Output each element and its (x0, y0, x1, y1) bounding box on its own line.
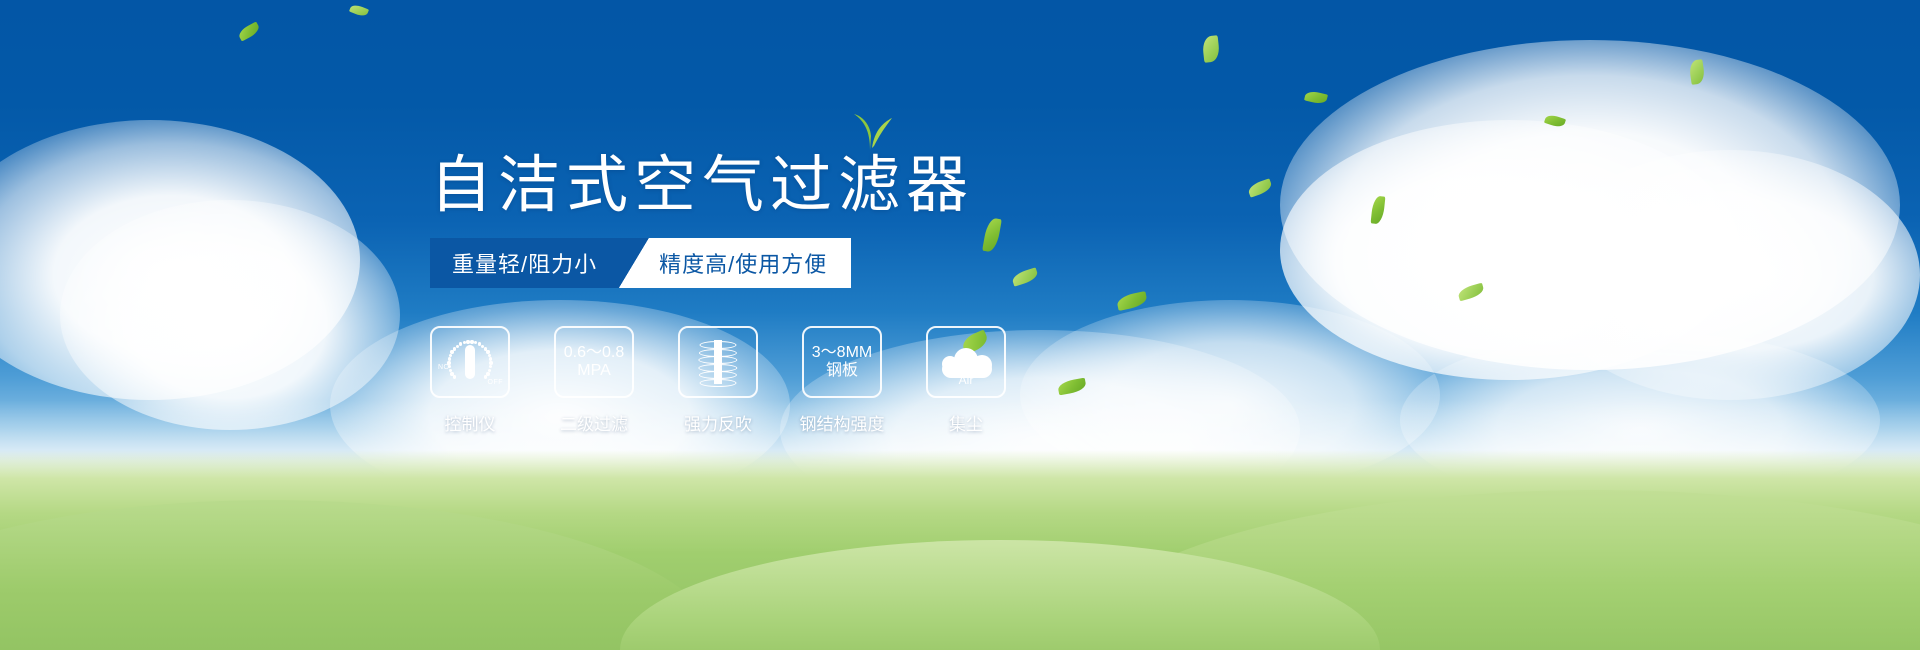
feature-item-dust: Air 集尘 (926, 326, 1006, 435)
gauge-tick (447, 361, 450, 364)
feature-line1: 0.6～0.8 (564, 344, 625, 362)
banner-hero: 自洁式空气过滤器 重量轻/阻力小 精度高/使用方便 NO OFF (0, 0, 1920, 650)
feature-item-steel: 3～8MM 钢板 钢结构强度 (802, 326, 882, 435)
gauge-needle (465, 345, 475, 379)
sprout-icon (840, 108, 900, 150)
feature-item-backflush: 强力反吹 (678, 326, 758, 435)
feature-line2: MPA (577, 362, 610, 380)
feature-line2: 钢板 (826, 362, 858, 380)
gauge-tick (448, 365, 451, 368)
pill-lightweight: 重量轻/阻力小 (430, 238, 619, 288)
gauge-tick (459, 342, 462, 345)
feature-caption: 强力反吹 (684, 410, 752, 435)
feature-list: NO OFF 控制仪 0.6～0.8 MPA 二级过滤 (430, 326, 1006, 435)
gauge-tick (453, 375, 456, 378)
gauge-tick (474, 341, 477, 344)
gauge-tick (484, 375, 487, 378)
feature-item-filtration: 0.6～0.8 MPA 二级过滤 (554, 326, 634, 435)
tagline-pills: 重量轻/阻力小 精度高/使用方便 (430, 238, 851, 288)
gauge-tick (448, 357, 451, 360)
pill-precision: 精度高/使用方便 (649, 238, 851, 288)
feature-item-controller: NO OFF 控制仪 (430, 326, 510, 435)
air-label: Air (936, 374, 996, 388)
feature-line1: 3～8MM (812, 344, 872, 362)
gauge-tick (450, 372, 453, 375)
feature-caption: 集尘 (949, 410, 983, 435)
gauge-tick (449, 354, 452, 357)
coil-icon (692, 336, 744, 388)
feature-box-steel: 3～8MM 钢板 (802, 326, 882, 398)
gauge-tick (450, 350, 453, 353)
feature-box-controller: NO OFF (430, 326, 510, 398)
feature-caption: 钢结构强度 (800, 410, 885, 435)
coil-ring (700, 379, 737, 387)
gauge-tick (489, 365, 492, 368)
feature-box-filtration: 0.6～0.8 MPA (554, 326, 634, 398)
feature-box-backflush (678, 326, 758, 398)
cloud-icon: Air (936, 338, 996, 386)
gauge-off-label: OFF (488, 379, 504, 387)
feature-caption: 控制仪 (445, 410, 496, 435)
banner-content: 自洁式空气过滤器 重量轻/阻力小 精度高/使用方便 NO OFF (0, 0, 1920, 650)
gauge-icon: NO OFF (442, 336, 498, 388)
feature-box-dust: Air (926, 326, 1006, 398)
pill-divider-wedge (619, 238, 649, 288)
feature-caption: 二级过滤 (560, 410, 628, 435)
